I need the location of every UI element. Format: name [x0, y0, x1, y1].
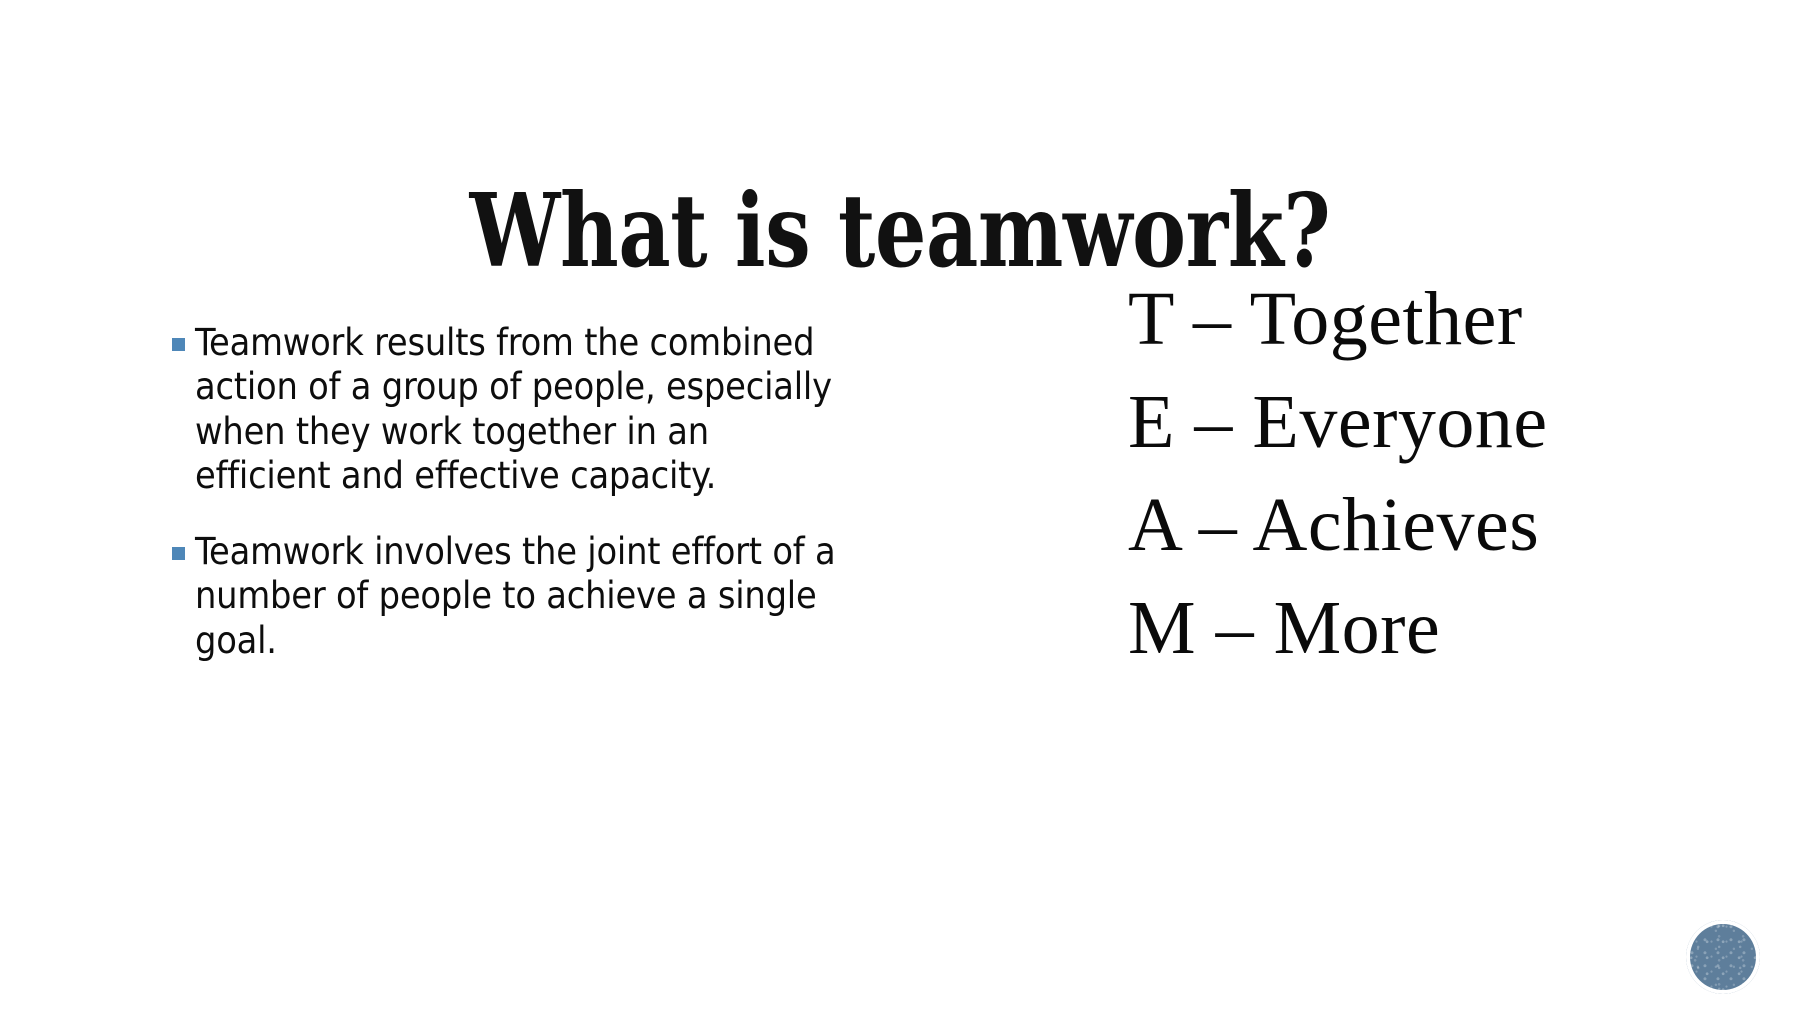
square-bullet-icon — [172, 547, 185, 560]
slide-number-badge — [1686, 920, 1760, 994]
acrostic-line-t: T – Together — [1128, 268, 1728, 371]
list-item: Teamwork involves the joint effort of a … — [150, 529, 850, 662]
acrostic-line-e: E – Everyone — [1128, 371, 1728, 474]
list-item-text: Teamwork involves the joint effort of a … — [195, 529, 850, 662]
list-item-text: Teamwork results from the combined actio… — [195, 320, 850, 497]
presentation-slide: What is teamwork? Teamwork results from … — [0, 0, 1800, 1012]
acrostic-line-m: M – More — [1128, 577, 1728, 680]
slide-number-label — [1686, 920, 1760, 994]
page-title: What is teamwork? — [180, 180, 1620, 281]
acrostic-column: T – Together E – Everyone A – Achieves M… — [1128, 268, 1728, 680]
body-text-column: Teamwork results from the combined actio… — [150, 320, 850, 662]
acrostic-line-a: A – Achieves — [1128, 474, 1728, 577]
square-bullet-icon — [172, 338, 185, 351]
list-item: Teamwork results from the combined actio… — [150, 320, 850, 497]
